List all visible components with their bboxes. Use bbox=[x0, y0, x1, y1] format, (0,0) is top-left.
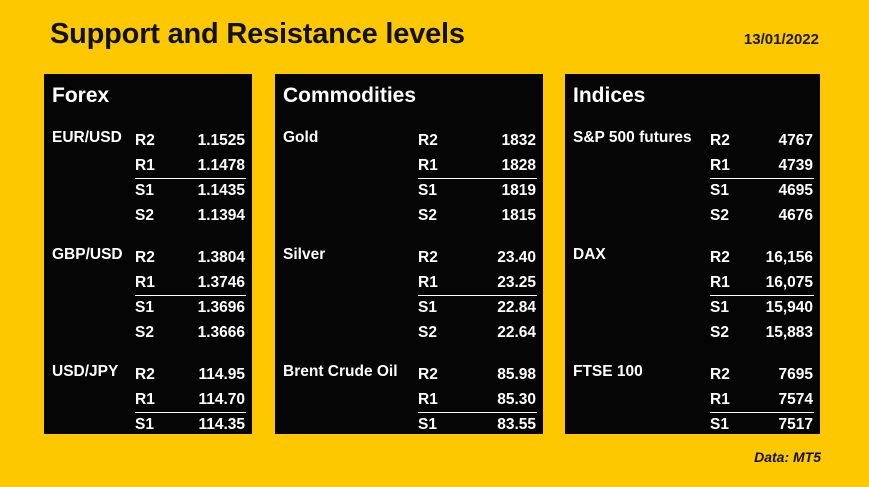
level-row: R1114.70 bbox=[44, 387, 252, 412]
instrument-group: USD/JPYR2114.95R1114.70S1114.35S2114.25 bbox=[44, 362, 252, 434]
instrument-group: GBP/USDR21.3804R11.3746S11.3696S21.3666 bbox=[44, 245, 252, 345]
instrument-group: Brent Crude OilR285.98R185.30S183.55S283… bbox=[275, 362, 543, 434]
level-row: R11828 bbox=[275, 153, 543, 178]
instrument-group: GoldR21832R11828S11819S21815 bbox=[275, 128, 543, 228]
level-rows: R27695R17574S17517S27467 bbox=[565, 362, 820, 434]
level-value: 83.55 bbox=[435, 412, 536, 434]
levels-panels: ForexEUR/USDR21.1525R11.1478S11.1435S21.… bbox=[0, 74, 869, 436]
level-row: S183.55 bbox=[275, 412, 543, 434]
level-value: 1.1394 bbox=[154, 203, 245, 228]
level-row: R285.98 bbox=[275, 362, 543, 387]
level-value: 23.40 bbox=[435, 245, 536, 270]
level-value: 15,940 bbox=[727, 295, 813, 320]
panel-title: Indices bbox=[573, 84, 645, 108]
level-value: 1.3804 bbox=[154, 245, 245, 270]
level-rows: R21832R11828S11819S21815 bbox=[275, 128, 543, 228]
level-key: S1 bbox=[135, 178, 154, 203]
level-row: S11.3696 bbox=[44, 295, 252, 320]
level-value: 16,156 bbox=[727, 245, 813, 270]
level-row: R2114.95 bbox=[44, 362, 252, 387]
instrument-group-list: S&P 500 futuresR24767R14739S14695S24676D… bbox=[565, 128, 820, 434]
level-value: 85.98 bbox=[435, 362, 536, 387]
level-value: 23.25 bbox=[435, 270, 536, 295]
level-key: S1 bbox=[135, 412, 154, 434]
panel-title: Commodities bbox=[283, 84, 416, 108]
level-row: S17517 bbox=[565, 412, 820, 434]
level-row: R21832 bbox=[275, 128, 543, 153]
level-value: 4767 bbox=[727, 128, 813, 153]
level-value: 114.70 bbox=[154, 387, 245, 412]
level-row: S1114.35 bbox=[44, 412, 252, 434]
level-value: 15,883 bbox=[727, 320, 813, 345]
panel-commodities: CommoditiesGoldR21832R11828S11819S21815S… bbox=[275, 74, 543, 434]
level-value: 1815 bbox=[435, 203, 536, 228]
level-row: S21815 bbox=[275, 203, 543, 228]
level-row: R14739 bbox=[565, 153, 820, 178]
level-value: 7517 bbox=[727, 412, 813, 434]
level-value: 1.1435 bbox=[154, 178, 245, 203]
level-key: S1 bbox=[135, 295, 154, 320]
level-row: R123.25 bbox=[275, 270, 543, 295]
level-row: R24767 bbox=[565, 128, 820, 153]
level-row: S14695 bbox=[565, 178, 820, 203]
level-value: 1.1525 bbox=[154, 128, 245, 153]
level-value: 1.1478 bbox=[154, 153, 245, 178]
level-key: S2 bbox=[135, 320, 154, 345]
level-row: S122.84 bbox=[275, 295, 543, 320]
level-rows: R285.98R185.30S183.55S283.10 bbox=[275, 362, 543, 434]
level-row: R216,156 bbox=[565, 245, 820, 270]
support-resistance-slide: { "header": { "title": "Support and Resi… bbox=[0, 0, 869, 487]
level-row: R21.3804 bbox=[44, 245, 252, 270]
level-key: R2 bbox=[135, 128, 155, 153]
level-key: R1 bbox=[135, 270, 155, 295]
data-source-note: Data: MT5 bbox=[754, 449, 821, 465]
level-row: S24676 bbox=[565, 203, 820, 228]
level-value: 1828 bbox=[435, 153, 536, 178]
level-key: R1 bbox=[135, 387, 155, 412]
level-value: 16,075 bbox=[727, 270, 813, 295]
level-rows: R223.40R123.25S122.84S222.64 bbox=[275, 245, 543, 345]
level-value: 1832 bbox=[435, 128, 536, 153]
level-value: 114.35 bbox=[154, 412, 245, 434]
panel-indices: IndicesS&P 500 futuresR24767R14739S14695… bbox=[565, 74, 820, 434]
level-row: S11.1435 bbox=[44, 178, 252, 203]
instrument-group: SilverR223.40R123.25S122.84S222.64 bbox=[275, 245, 543, 345]
level-rows: R216,156R116,075S115,940S215,883 bbox=[565, 245, 820, 345]
level-key: R2 bbox=[135, 245, 155, 270]
level-row: R27695 bbox=[565, 362, 820, 387]
level-value: 1819 bbox=[435, 178, 536, 203]
level-row: S11819 bbox=[275, 178, 543, 203]
level-row: R11.3746 bbox=[44, 270, 252, 295]
instrument-group: S&P 500 futuresR24767R14739S14695S24676 bbox=[565, 128, 820, 228]
level-rows: R2114.95R1114.70S1114.35S2114.25 bbox=[44, 362, 252, 434]
level-key: S2 bbox=[135, 203, 154, 228]
report-date: 13/01/2022 bbox=[744, 31, 819, 48]
level-row: R223.40 bbox=[275, 245, 543, 270]
level-row: R185.30 bbox=[275, 387, 543, 412]
level-row: S21.3666 bbox=[44, 320, 252, 345]
page-title: Support and Resistance levels bbox=[50, 18, 465, 51]
level-row: S222.64 bbox=[275, 320, 543, 345]
panel-title: Forex bbox=[52, 84, 109, 108]
level-value: 1.3666 bbox=[154, 320, 245, 345]
level-row: S115,940 bbox=[565, 295, 820, 320]
level-value: 22.64 bbox=[435, 320, 536, 345]
level-row: R21.1525 bbox=[44, 128, 252, 153]
level-value: 114.95 bbox=[154, 362, 245, 387]
level-key: R2 bbox=[135, 362, 155, 387]
level-value: 4676 bbox=[727, 203, 813, 228]
instrument-group-list: GoldR21832R11828S11819S21815SilverR223.4… bbox=[275, 128, 543, 434]
instrument-group-list: EUR/USDR21.1525R11.1478S11.1435S21.1394G… bbox=[44, 128, 252, 434]
instrument-group: DAXR216,156R116,075S115,940S215,883 bbox=[565, 245, 820, 345]
instrument-group: FTSE 100R27695R17574S17517S27467 bbox=[565, 362, 820, 434]
level-rows: R21.1525R11.1478S11.1435S21.1394 bbox=[44, 128, 252, 228]
level-value: 7695 bbox=[727, 362, 813, 387]
level-value: 85.30 bbox=[435, 387, 536, 412]
level-row: S21.1394 bbox=[44, 203, 252, 228]
level-row: S215,883 bbox=[565, 320, 820, 345]
level-row: R116,075 bbox=[565, 270, 820, 295]
level-row: R11.1478 bbox=[44, 153, 252, 178]
level-rows: R21.3804R11.3746S11.3696S21.3666 bbox=[44, 245, 252, 345]
level-value: 7574 bbox=[727, 387, 813, 412]
level-row: R17574 bbox=[565, 387, 820, 412]
level-value: 1.3696 bbox=[154, 295, 245, 320]
panel-forex: ForexEUR/USDR21.1525R11.1478S11.1435S21.… bbox=[44, 74, 252, 434]
level-value: 4739 bbox=[727, 153, 813, 178]
level-rows: R24767R14739S14695S24676 bbox=[565, 128, 820, 228]
level-value: 22.84 bbox=[435, 295, 536, 320]
level-value: 4695 bbox=[727, 178, 813, 203]
instrument-group: EUR/USDR21.1525R11.1478S11.1435S21.1394 bbox=[44, 128, 252, 228]
level-key: R1 bbox=[135, 153, 155, 178]
level-value: 1.3746 bbox=[154, 270, 245, 295]
